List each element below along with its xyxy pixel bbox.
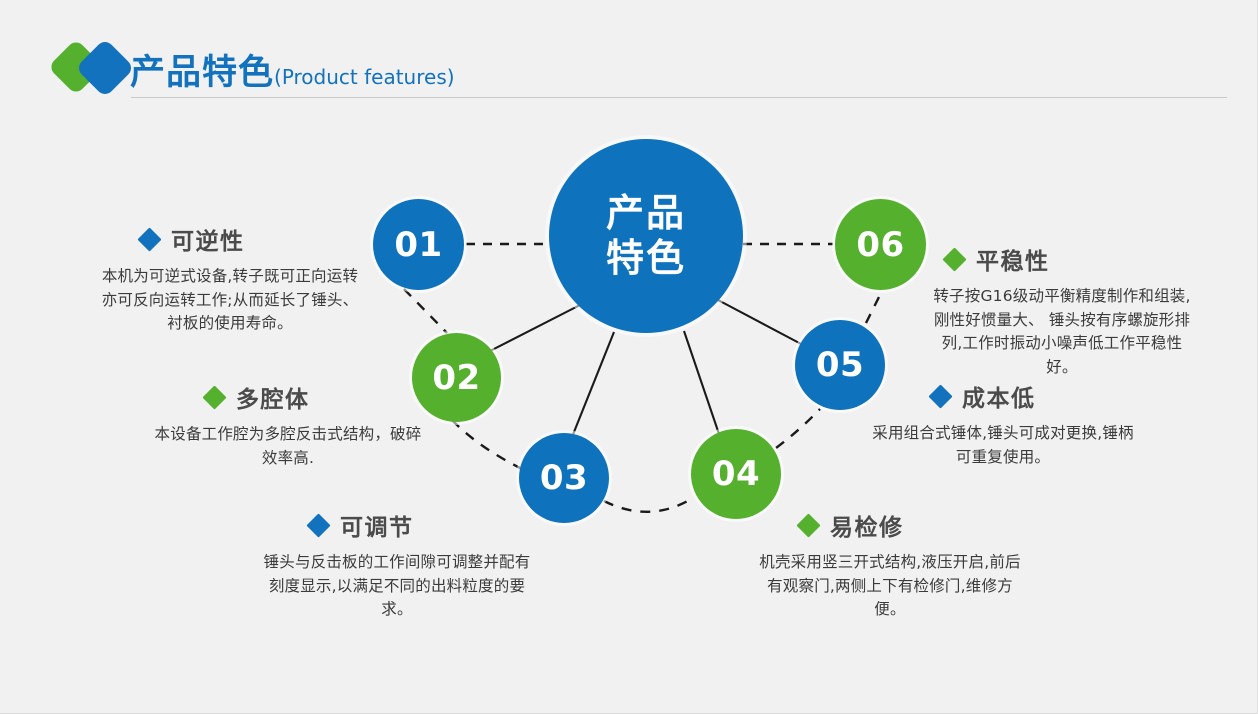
feature-reversible-head: 可逆性 [95, 222, 365, 256]
center-node-label: 产品 特色 [606, 191, 686, 281]
feature-adjustable-head: 可调节 [258, 508, 536, 542]
diamond-bullet-icon [796, 513, 820, 537]
diamond-bullet-icon [942, 247, 966, 271]
line-center-03 [572, 332, 614, 437]
node-06-number: 06 [856, 228, 904, 262]
feature-reversible-body: 本机为可逆式设备,转子既可正向运转亦可反向运转工作;从而延长了锤头、衬板的使用寿… [95, 265, 365, 336]
feature-cost-body: 采用组合式锤体,锤头可成对更换,锤柄可重复使用。 [866, 422, 1140, 469]
line-center-05 [718, 300, 803, 345]
feature-stability-head: 平稳性 [930, 242, 1194, 276]
feature-cost: 成本低 采用组合式锤体,锤头可成对更换,锤柄可重复使用。 [866, 379, 1140, 469]
feature-adjustable: 可调节 锤头与反击板的工作间隙可调整并配有刻度显示,以满足不同的出料粒度的要求。 [258, 508, 536, 622]
node-01-number: 01 [394, 228, 442, 262]
line-center-02 [488, 305, 580, 352]
node-04-number: 04 [712, 457, 760, 491]
diamond-bullet-icon [928, 384, 952, 408]
feature-reversible-title: 可逆性 [171, 222, 245, 256]
feature-stability: 平稳性 转子按G16级动平衡精度制作和组装,刚性好惯量大、 锤头按有序螺旋形排列… [930, 242, 1194, 379]
node-01[interactable]: 01 [373, 199, 464, 290]
feature-reversible: 可逆性 本机为可逆式设备,转子既可正向运转亦可反向运转工作;从而延长了锤头、衬板… [95, 222, 365, 336]
feature-multichamber: 多腔体 本设备工作腔为多腔反击式结构，破碎效率高. [148, 380, 428, 470]
feature-adjustable-title: 可调节 [340, 508, 414, 542]
node-02-number: 02 [432, 361, 480, 395]
line-05-06 [866, 291, 882, 323]
feature-stability-title: 平稳性 [976, 242, 1050, 276]
feature-multichamber-body: 本设备工作腔为多腔反击式结构，破碎效率高. [148, 423, 428, 470]
feature-multichamber-head: 多腔体 [148, 380, 428, 414]
feature-maintain-head: 易检修 [752, 508, 1028, 542]
feature-cost-title: 成本低 [962, 379, 1036, 413]
node-04[interactable]: 04 [691, 429, 781, 519]
feature-maintain-title: 易检修 [830, 508, 904, 542]
line-04-05 [776, 409, 820, 448]
node-05-number: 05 [816, 348, 864, 382]
node-03-number: 03 [540, 461, 588, 495]
feature-cost-head: 成本低 [866, 379, 1140, 413]
center-label-line2: 特色 [606, 236, 686, 281]
feature-adjustable-body: 锤头与反击板的工作间隙可调整并配有刻度显示,以满足不同的出料粒度的要求。 [258, 551, 536, 622]
feature-multichamber-title: 多腔体 [236, 380, 310, 414]
diamond-bullet-icon [306, 513, 330, 537]
line-center-04 [684, 331, 719, 434]
feature-maintain-body: 机壳采用竖三开式结构,液压开启,前后有观察门,两侧上下有检修门,维修方便。 [752, 551, 1028, 622]
center-label-line1: 产品 [606, 191, 686, 236]
diamond-bullet-icon [202, 385, 226, 409]
line-01-02 [404, 289, 447, 333]
feature-maintain: 易检修 机壳采用竖三开式结构,液压开启,前后有观察门,两侧上下有检修门,维修方便… [752, 508, 1028, 622]
node-06[interactable]: 06 [835, 199, 926, 290]
line-02-03 [452, 420, 522, 469]
center-node[interactable]: 产品 特色 [549, 139, 743, 333]
diamond-bullet-icon [137, 227, 161, 251]
feature-stability-body: 转子按G16级动平衡精度制作和组装,刚性好惯量大、 锤头按有序螺旋形排列,工作时… [930, 285, 1194, 379]
line-03-04 [604, 498, 693, 512]
